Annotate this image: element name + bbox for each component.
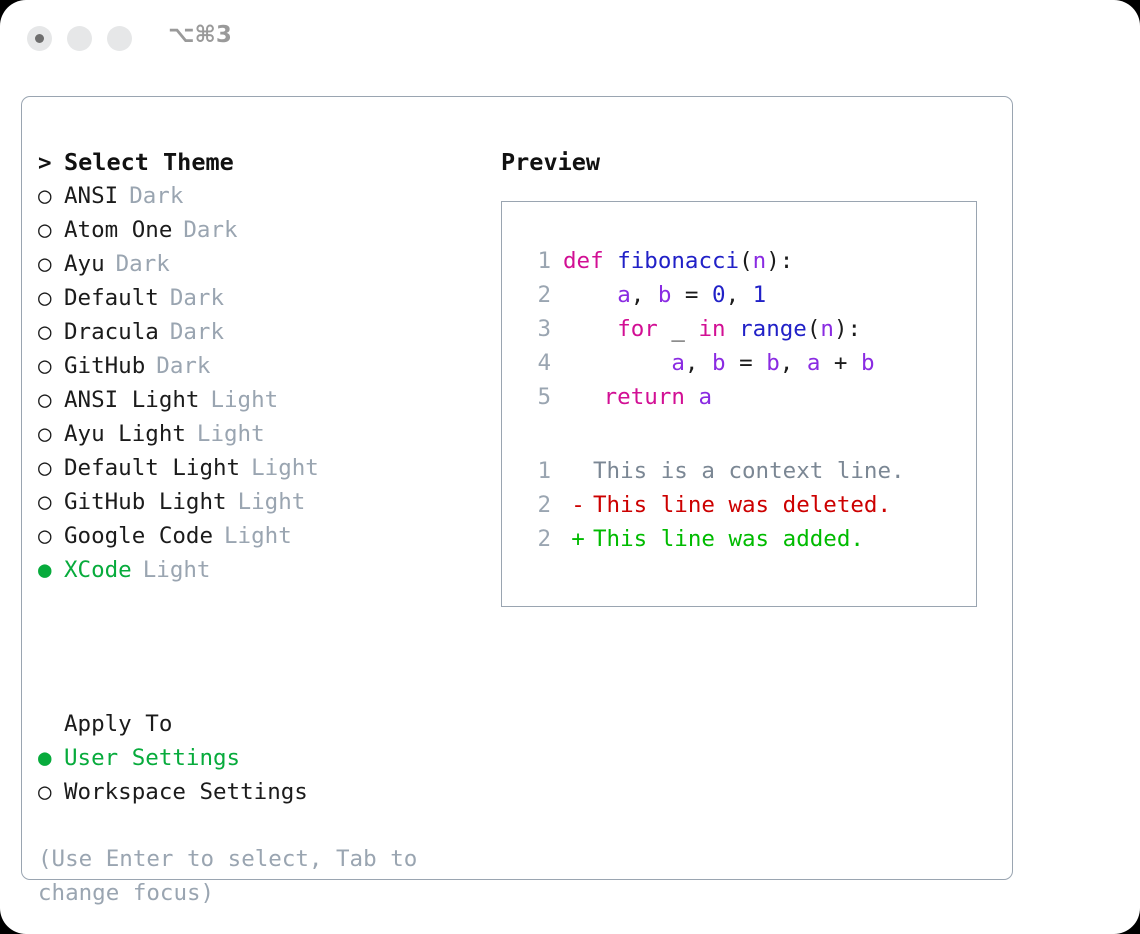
code-line-text: a, b = 0, 1 bbox=[563, 278, 766, 312]
radio-unselected-icon[interactable]: ○ bbox=[38, 417, 64, 451]
theme-name: ANSI Light bbox=[64, 383, 199, 417]
theme-list-header: > Select Theme bbox=[38, 145, 498, 179]
radio-unselected-icon[interactable]: ○ bbox=[38, 281, 64, 315]
theme-kind-badge: Dark bbox=[105, 247, 170, 281]
code-sample: 1def fibonacci(n):2 a, b = 0, 13 for _ i… bbox=[521, 244, 875, 414]
code-token: b bbox=[658, 282, 672, 308]
theme-list-item[interactable]: ○ANSI LightLight bbox=[38, 383, 498, 417]
code-token: a bbox=[671, 350, 685, 376]
theme-kind-badge: Light bbox=[213, 519, 292, 553]
theme-kind-badge: Dark bbox=[118, 179, 183, 213]
apply-to-label: Workspace Settings bbox=[64, 775, 308, 809]
main-card: > Select Theme ○ANSIDark○Atom OneDark○Ay… bbox=[21, 96, 1013, 880]
apply-to-item[interactable]: ○Workspace Settings bbox=[38, 775, 498, 809]
theme-name: ANSI bbox=[64, 179, 118, 213]
diff-line: 2-This line was deleted. bbox=[521, 488, 905, 522]
apply-to-title: Apply To bbox=[64, 707, 172, 741]
code-token: in bbox=[698, 316, 725, 342]
radio-unselected-icon[interactable]: ○ bbox=[38, 315, 64, 349]
code-token: 0 bbox=[712, 282, 726, 308]
code-token: , bbox=[780, 350, 807, 376]
theme-name: XCode bbox=[64, 553, 132, 587]
window-dot-third[interactable] bbox=[107, 26, 132, 51]
apply-to-header: ○ Apply To bbox=[38, 707, 498, 741]
code-token: , bbox=[726, 282, 753, 308]
code-token bbox=[563, 316, 617, 342]
code-token: = bbox=[671, 282, 712, 308]
code-line-number: 3 bbox=[521, 312, 563, 346]
code-line-number: 4 bbox=[521, 346, 563, 380]
code-line-number: 1 bbox=[521, 244, 563, 278]
code-line: 1def fibonacci(n): bbox=[521, 244, 875, 278]
code-line-text: for _ in range(n): bbox=[563, 312, 861, 346]
code-token: _ bbox=[658, 316, 699, 342]
code-line: 4 a, b = b, a + b bbox=[521, 346, 875, 380]
diff-sample: 1 This is a context line.2-This line was… bbox=[521, 454, 905, 556]
diff-line-number: 2 bbox=[521, 488, 563, 522]
app-window: ⌥⌘3 > Select Theme ○ANSIDark○Atom OneDar… bbox=[0, 0, 1140, 934]
code-token: fibonacci bbox=[617, 248, 739, 274]
theme-name: Atom One bbox=[64, 213, 172, 247]
theme-kind-badge: Light bbox=[227, 485, 306, 519]
radio-selected-icon[interactable]: ● bbox=[38, 741, 64, 775]
window-dot-active[interactable] bbox=[27, 26, 52, 51]
theme-rows: ○ANSIDark○Atom OneDark○AyuDark○DefaultDa… bbox=[38, 179, 498, 587]
preview-panel: Preview 1def fibonacci(n):2 a, b = 0, 13… bbox=[501, 145, 1001, 607]
code-token: = bbox=[726, 350, 767, 376]
code-line-number: 2 bbox=[521, 278, 563, 312]
theme-list-item[interactable]: ○AyuDark bbox=[38, 247, 498, 281]
diff-line-number: 1 bbox=[521, 454, 563, 488]
code-token: + bbox=[820, 350, 861, 376]
radio-unselected-icon[interactable]: ○ bbox=[38, 451, 64, 485]
theme-list-item[interactable]: ○Atom OneDark bbox=[38, 213, 498, 247]
theme-kind-badge: Dark bbox=[159, 315, 224, 349]
theme-name: GitHub Light bbox=[64, 485, 227, 519]
code-token: a bbox=[617, 282, 631, 308]
code-line-text: a, b = b, a + b bbox=[563, 346, 875, 380]
theme-kind-badge: Light bbox=[186, 417, 265, 451]
keyboard-hint-text: (Use Enter to select, Tab to change focu… bbox=[38, 842, 458, 910]
theme-kind-badge: Dark bbox=[159, 281, 224, 315]
radio-unselected-icon[interactable]: ○ bbox=[38, 485, 64, 519]
diff-line: 2+This line was added. bbox=[521, 522, 905, 556]
theme-kind-badge: Light bbox=[240, 451, 319, 485]
code-line: 2 a, b = 0, 1 bbox=[521, 278, 875, 312]
theme-kind-badge: Dark bbox=[172, 213, 237, 247]
theme-list-item[interactable]: ●XCodeLight bbox=[38, 553, 498, 587]
radio-unselected-icon[interactable]: ○ bbox=[38, 349, 64, 383]
diff-marker-icon: + bbox=[563, 522, 593, 556]
code-token: ): bbox=[766, 248, 793, 274]
code-line: 5 return a bbox=[521, 380, 875, 414]
theme-list-title: Select Theme bbox=[64, 145, 234, 179]
theme-list-item[interactable]: ○Google CodeLight bbox=[38, 519, 498, 553]
theme-kind-badge: Light bbox=[132, 553, 211, 587]
code-token: ( bbox=[739, 248, 753, 274]
code-token: a bbox=[698, 384, 712, 410]
code-token: n bbox=[753, 248, 767, 274]
apply-to-rows: ●User Settings○Workspace Settings bbox=[38, 741, 498, 809]
radio-unselected-icon[interactable]: ○ bbox=[38, 179, 64, 213]
code-token: , bbox=[631, 282, 658, 308]
apply-to-label: User Settings bbox=[64, 741, 240, 775]
theme-kind-badge: Dark bbox=[145, 349, 210, 383]
code-line: 3 for _ in range(n): bbox=[521, 312, 875, 346]
diff-line-text: This line was added. bbox=[593, 522, 864, 556]
theme-list-item[interactable]: ○GitHub LightLight bbox=[38, 485, 498, 519]
theme-name: Dracula bbox=[64, 315, 159, 349]
code-token: return bbox=[604, 384, 699, 410]
diff-line-text: This line was deleted. bbox=[593, 488, 891, 522]
apply-to-section: ○ Apply To ●User Settings○Workspace Sett… bbox=[38, 707, 498, 809]
theme-name: Ayu Light bbox=[64, 417, 186, 451]
radio-unselected-icon[interactable]: ○ bbox=[38, 247, 64, 281]
preview-box: 1def fibonacci(n):2 a, b = 0, 13 for _ i… bbox=[501, 201, 977, 607]
apply-to-spacer-icon: ○ bbox=[38, 707, 64, 741]
keyboard-shortcut-label: ⌥⌘3 bbox=[168, 22, 232, 48]
code-line-number: 5 bbox=[521, 380, 563, 414]
code-token bbox=[563, 384, 604, 410]
code-token: def bbox=[563, 248, 617, 274]
theme-list-item[interactable]: ○DraculaDark bbox=[38, 315, 498, 349]
diff-marker-icon bbox=[563, 454, 593, 488]
radio-unselected-icon[interactable]: ○ bbox=[38, 213, 64, 247]
theme-list-item[interactable]: ○ANSIDark bbox=[38, 179, 498, 213]
theme-name: Google Code bbox=[64, 519, 213, 553]
prompt-caret-icon: > bbox=[38, 146, 64, 180]
code-token: range bbox=[739, 316, 807, 342]
preview-title: Preview bbox=[501, 145, 1001, 179]
theme-list-item[interactable]: ○GitHubDark bbox=[38, 349, 498, 383]
code-token bbox=[563, 282, 617, 308]
code-token: b bbox=[766, 350, 780, 376]
theme-list-item[interactable]: ○DefaultDark bbox=[38, 281, 498, 315]
radio-unselected-icon[interactable]: ○ bbox=[38, 519, 64, 553]
code-line-text: def fibonacci(n): bbox=[563, 244, 793, 278]
diff-marker-icon: - bbox=[563, 488, 593, 522]
diff-line: 1 This is a context line. bbox=[521, 454, 905, 488]
code-token: for bbox=[617, 316, 658, 342]
code-token: , bbox=[685, 350, 712, 376]
theme-kind-badge: Light bbox=[199, 383, 278, 417]
code-token bbox=[563, 350, 671, 376]
code-line-text: return a bbox=[563, 380, 712, 414]
window-dot-active-inner bbox=[35, 34, 44, 43]
code-token: b bbox=[712, 350, 726, 376]
theme-name: Default bbox=[64, 281, 159, 315]
diff-line-number: 2 bbox=[521, 522, 563, 556]
theme-name: Default Light bbox=[64, 451, 240, 485]
window-dot-second[interactable] bbox=[67, 26, 92, 51]
radio-unselected-icon[interactable]: ○ bbox=[38, 383, 64, 417]
code-token: ): bbox=[834, 316, 861, 342]
code-token: b bbox=[861, 350, 875, 376]
code-token: 1 bbox=[753, 282, 767, 308]
code-token: n bbox=[820, 316, 834, 342]
radio-selected-icon[interactable]: ● bbox=[38, 553, 64, 587]
code-token: a bbox=[807, 350, 821, 376]
theme-list-item[interactable]: ○Ayu LightLight bbox=[38, 417, 498, 451]
titlebar: ⌥⌘3 bbox=[0, 0, 1140, 78]
theme-list-item[interactable]: ○Default LightLight bbox=[38, 451, 498, 485]
apply-to-item[interactable]: ●User Settings bbox=[38, 741, 498, 775]
theme-name: Ayu bbox=[64, 247, 105, 281]
code-token: ( bbox=[807, 316, 821, 342]
radio-unselected-icon[interactable]: ○ bbox=[38, 775, 64, 809]
code-token bbox=[726, 316, 740, 342]
diff-line-text: This is a context line. bbox=[593, 454, 905, 488]
theme-selector-list: > Select Theme ○ANSIDark○Atom OneDark○Ay… bbox=[38, 145, 498, 587]
window-controls bbox=[27, 26, 132, 51]
theme-name: GitHub bbox=[64, 349, 145, 383]
